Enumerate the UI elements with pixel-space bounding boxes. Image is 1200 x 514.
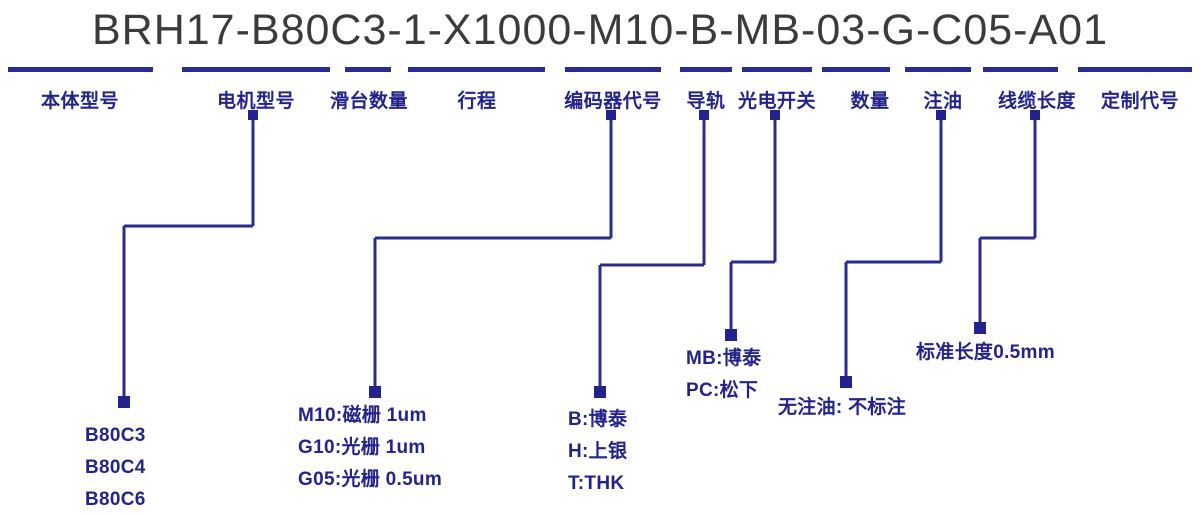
body_model_leader xyxy=(118,110,258,408)
option-line: 标准长度0.5mm xyxy=(916,337,1055,369)
field-underline-slide_count xyxy=(345,67,391,72)
option-line: M10:磁栅 1um xyxy=(298,400,442,432)
leader-marker-bottom xyxy=(725,329,737,341)
option-line: G10:光栅 1um xyxy=(298,432,442,464)
field-underline-motor_model xyxy=(182,67,330,72)
option-block-cable_length_options: 标准长度0.5mm xyxy=(916,337,1055,369)
option-line: G05:光栅 0.5um xyxy=(298,464,442,496)
leader-marker-bottom xyxy=(840,376,852,388)
field-underline-photo_switch xyxy=(742,67,812,72)
field-underline-quantity xyxy=(822,67,890,72)
option-line: H:上银 xyxy=(568,436,627,468)
option-line: 无注油: 不标注 xyxy=(778,392,906,424)
option-line: B80C4 xyxy=(85,452,146,484)
field-underline-body_model xyxy=(8,67,153,72)
product-code-diagram: BRH17-B80C3-1-X1000-M10-B-MB-03-G-C05-A0… xyxy=(0,0,1200,514)
option-line: B:博泰 xyxy=(568,404,627,436)
option-line: MB:博泰 xyxy=(686,343,761,375)
field-underline-guide_rail xyxy=(680,67,732,72)
option-line: PC:松下 xyxy=(686,375,761,407)
field-underline-encoder_code xyxy=(565,67,661,72)
encoder_leader xyxy=(369,110,616,398)
field-underline-stroke xyxy=(408,67,545,72)
photo_switch_leader xyxy=(725,110,780,341)
leader-marker-bottom xyxy=(594,386,606,398)
option-line: B80C3 xyxy=(85,420,146,452)
option-block-photo_switch_options: MB:博泰PC:松下 xyxy=(686,343,761,407)
field-underline-cable_length xyxy=(983,67,1058,72)
option-block-oiling_options: 无注油: 不标注 xyxy=(778,392,906,424)
option-line: T:THK xyxy=(568,468,627,500)
option-block-guide_rail_options: B:博泰H:上银T:THK xyxy=(568,404,627,500)
product-code-title: BRH17-B80C3-1-X1000-M10-B-MB-03-G-C05-A0… xyxy=(0,2,1200,58)
field-label-custom_code: 定制代号 xyxy=(540,86,1200,113)
field-underline-custom_code xyxy=(1078,67,1192,72)
option-line: B80C6 xyxy=(85,484,146,514)
field-underline-oiling xyxy=(905,67,971,72)
leader-marker-bottom xyxy=(118,396,130,408)
cable_leader xyxy=(974,110,1040,334)
leader-marker-bottom xyxy=(974,322,986,334)
option-block-body_model_options: B80C3B80C4B80C6 xyxy=(85,420,146,514)
option-block-encoder_options: M10:磁栅 1umG10:光栅 1umG05:光栅 0.5um xyxy=(298,400,442,496)
leader-marker-bottom xyxy=(369,386,381,398)
